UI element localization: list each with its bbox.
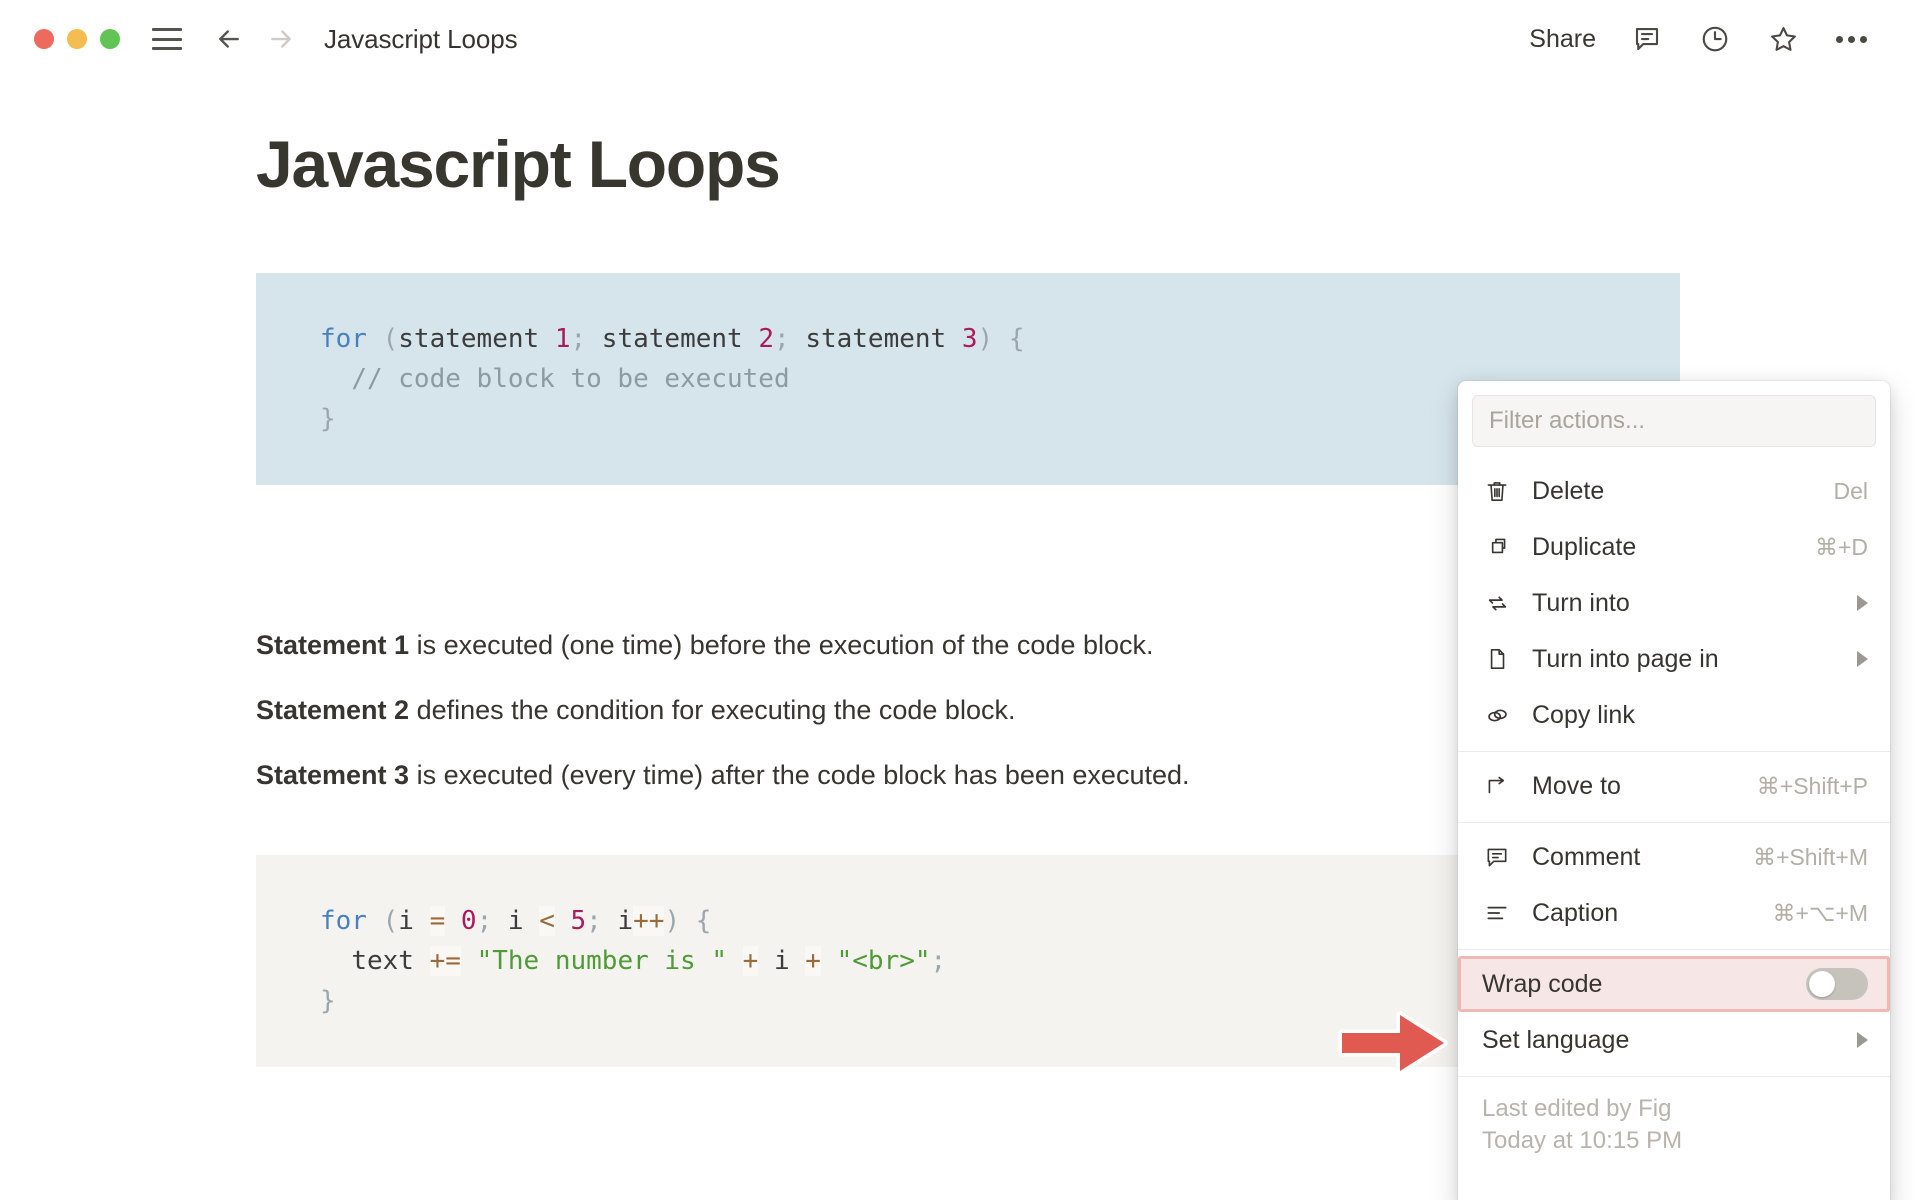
menu-item-shortcut: ⌘+Shift+P [1757, 773, 1868, 800]
minimize-button[interactable] [67, 29, 87, 49]
menu-item-shortcut: ⌘+Shift+M [1753, 844, 1868, 871]
move-to-icon [1480, 769, 1514, 803]
menu-item-duplicate[interactable]: Duplicate ⌘+D [1458, 519, 1890, 575]
paragraph-statement-3[interactable]: Statement 3 is executed (every time) aft… [256, 756, 1190, 795]
comment-icon[interactable] [1630, 22, 1664, 56]
menu-item-label: Delete [1532, 477, 1604, 506]
paragraph-bold-lead: Statement 3 [256, 760, 409, 790]
hamburger-icon[interactable] [152, 28, 182, 50]
chevron-right-icon [1857, 1032, 1868, 1048]
menu-item-label: Copy link [1532, 701, 1635, 730]
link-icon [1480, 698, 1514, 732]
paragraph-statement-2[interactable]: Statement 2 defines the condition for ex… [256, 691, 1015, 730]
page-icon [1480, 642, 1514, 676]
document-page: Javascript Loops for (statement 1; state… [0, 78, 1920, 1200]
arrow-right-icon[interactable] [266, 24, 296, 54]
block-context-menu: Delete Del Duplicate ⌘+D [1458, 381, 1890, 1200]
wrap-code-toggle[interactable] [1806, 968, 1868, 1000]
nav-arrows [214, 24, 296, 54]
breadcrumb[interactable]: Javascript Loops [324, 24, 518, 55]
titlebar: Javascript Loops Share [0, 0, 1920, 78]
menu-item-shortcut: ⌘+D [1815, 534, 1868, 561]
menu-item-shortcut: ⌘+⌥+M [1772, 900, 1868, 927]
menu-item-label: Comment [1532, 843, 1640, 872]
traffic-lights [34, 29, 120, 49]
arrow-left-icon[interactable] [214, 24, 244, 54]
menu-item-caption[interactable]: Caption ⌘+⌥+M [1458, 885, 1890, 941]
menu-item-label: Turn into [1532, 589, 1630, 618]
share-button[interactable]: Share [1529, 25, 1596, 54]
menu-item-copy-link[interactable]: Copy link [1458, 687, 1890, 743]
paragraph-bold-lead: Statement 1 [256, 630, 409, 660]
paragraph-rest: is executed (one time) before the execut… [409, 630, 1153, 660]
menu-item-label: Move to [1532, 772, 1621, 801]
menu-item-comment[interactable]: Comment ⌘+Shift+M [1458, 829, 1890, 885]
ellipsis-icon[interactable] [1834, 22, 1868, 56]
trash-icon [1480, 474, 1514, 508]
duplicate-icon [1480, 530, 1514, 564]
document-content: Javascript Loops [256, 78, 1680, 201]
menu-footer: Last edited by Fig Today at 10:15 PM [1458, 1077, 1890, 1158]
app-window: Javascript Loops Share [0, 0, 1920, 1200]
last-edited-at: Today at 10:15 PM [1482, 1125, 1866, 1157]
menu-group-code: Wrap code Set language [1458, 950, 1890, 1076]
menu-item-label: Turn into page in [1532, 645, 1719, 674]
close-button[interactable] [34, 29, 54, 49]
menu-item-label: Wrap code [1482, 970, 1602, 999]
paragraph-bold-lead: Statement 2 [256, 695, 409, 725]
paragraph-statement-1[interactable]: Statement 1 is executed (one time) befor… [256, 626, 1154, 665]
menu-item-label: Set language [1482, 1026, 1629, 1055]
menu-item-label: Duplicate [1532, 533, 1636, 562]
clock-icon[interactable] [1698, 22, 1732, 56]
menu-item-label: Caption [1532, 899, 1618, 928]
menu-item-set-language[interactable]: Set language [1458, 1012, 1890, 1068]
turn-into-icon [1480, 586, 1514, 620]
paragraph-rest: defines the condition for executing the … [409, 695, 1015, 725]
menu-item-move-to[interactable]: Move to ⌘+Shift+P [1458, 758, 1890, 814]
menu-item-turn-into-page-in[interactable]: Turn into page in [1458, 631, 1890, 687]
filter-actions-input[interactable] [1472, 395, 1876, 447]
caption-icon [1480, 896, 1514, 930]
menu-item-shortcut: Del [1833, 478, 1868, 505]
titlebar-actions: Share [1529, 22, 1894, 56]
paragraph-rest: is executed (every time) after the code … [409, 760, 1189, 790]
menu-item-delete[interactable]: Delete Del [1458, 463, 1890, 519]
filter-actions-wrap [1458, 381, 1890, 457]
menu-group-move: Move to ⌘+Shift+P [1458, 752, 1890, 822]
chevron-right-icon [1857, 651, 1868, 667]
comment-icon [1480, 840, 1514, 874]
menu-item-turn-into[interactable]: Turn into [1458, 575, 1890, 631]
menu-group-primary: Delete Del Duplicate ⌘+D [1458, 457, 1890, 751]
menu-item-wrap-code[interactable]: Wrap code [1458, 956, 1890, 1012]
star-icon[interactable] [1766, 22, 1800, 56]
page-title[interactable]: Javascript Loops [256, 128, 1680, 201]
last-edited-by: Last edited by Fig [1482, 1093, 1866, 1125]
menu-group-annotate: Comment ⌘+Shift+M Caption ⌘+⌥+M [1458, 823, 1890, 949]
toggle-knob [1809, 971, 1835, 997]
zoom-button[interactable] [100, 29, 120, 49]
chevron-right-icon [1857, 595, 1868, 611]
